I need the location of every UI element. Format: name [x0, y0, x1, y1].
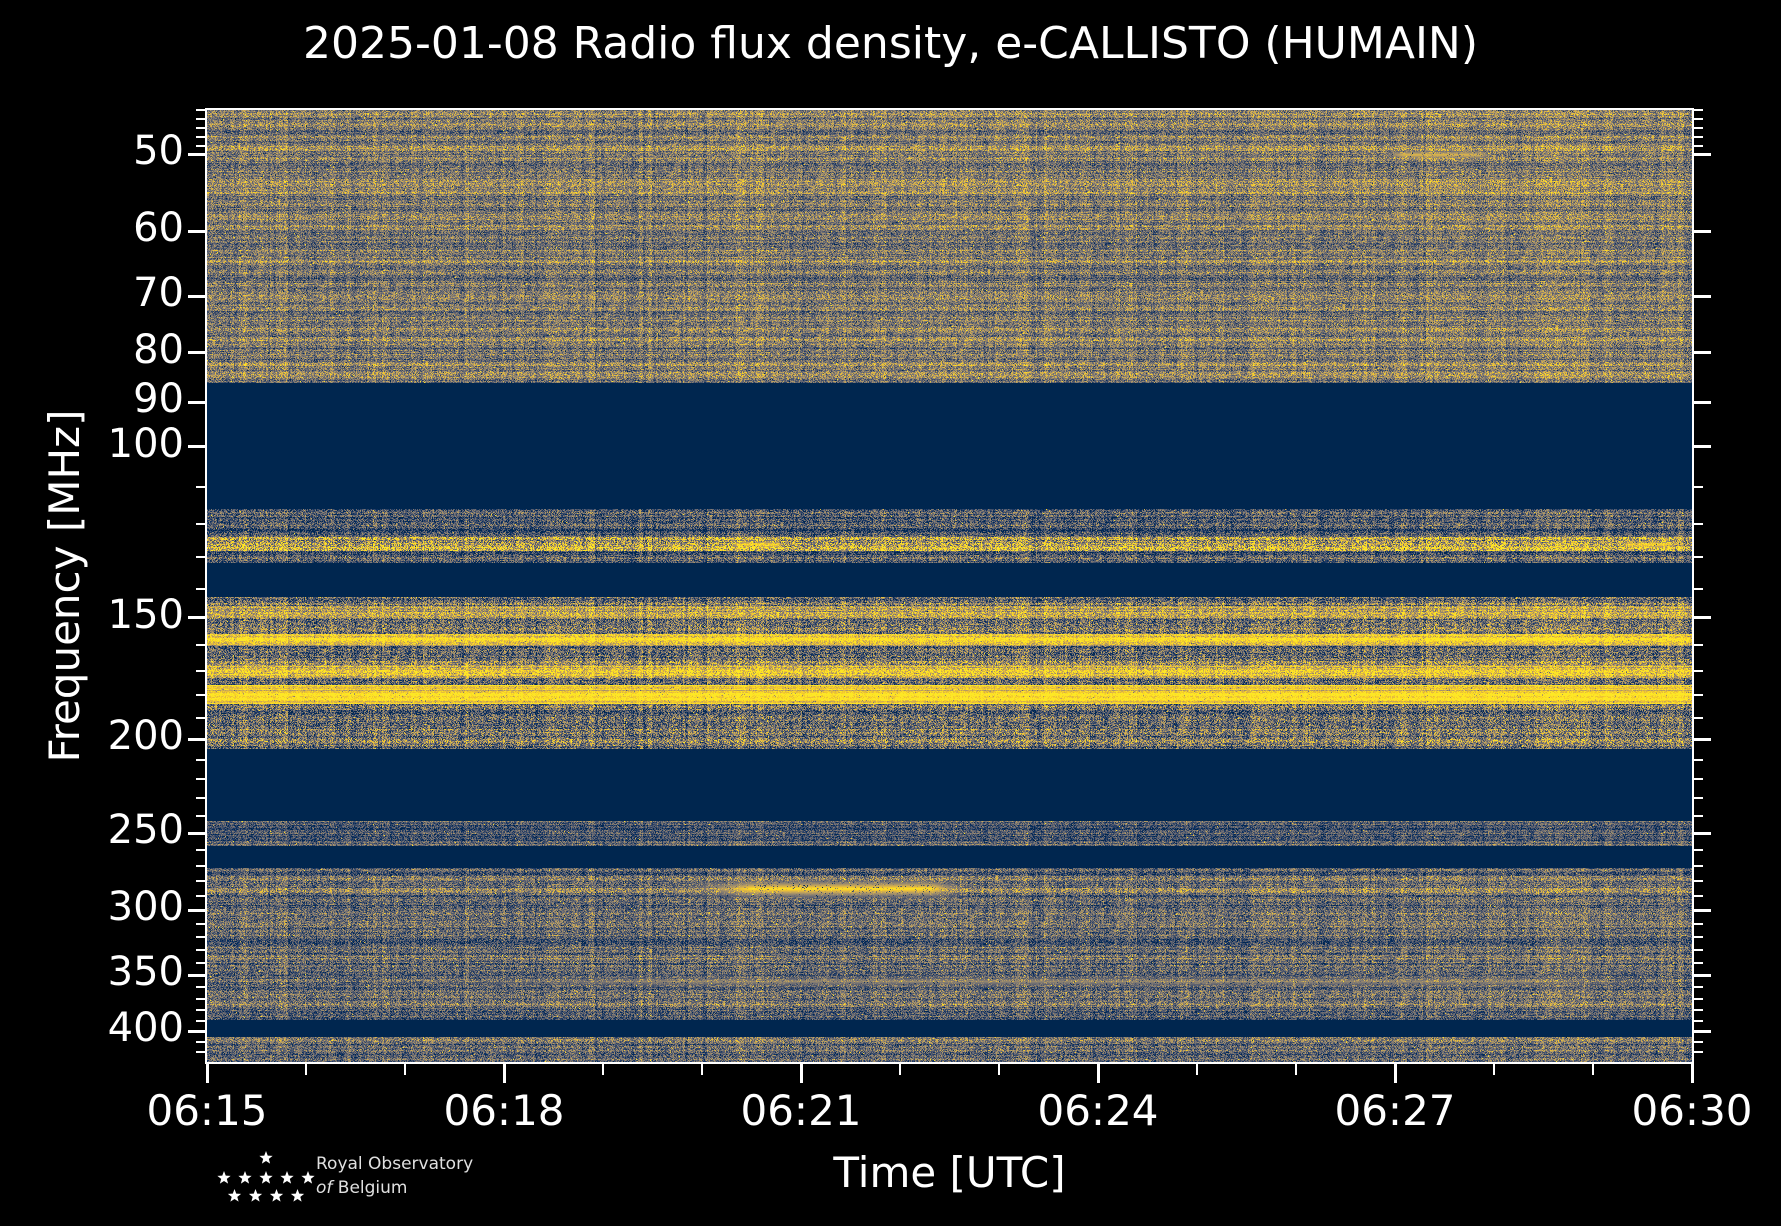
- y-tick-150: [188, 616, 205, 619]
- y-tick-right-100: [1694, 445, 1711, 448]
- y-tick-label-100: 100: [108, 421, 184, 467]
- y-tick-right-250: [1694, 832, 1711, 835]
- y-tick-50: [188, 153, 205, 156]
- y-tick-minor-340: [196, 962, 205, 964]
- y-tick-200: [188, 738, 205, 741]
- y-tick-minor-260: [196, 849, 205, 851]
- x-tick-0621: [800, 1064, 803, 1083]
- y-tick-minor-230: [196, 797, 205, 799]
- y-tick-minor-180: [196, 694, 205, 696]
- y-tick-minor-410: [196, 1041, 205, 1043]
- y-tick-right-60: [1694, 230, 1711, 233]
- logo-line-2: of Belgium: [316, 1176, 516, 1200]
- logo-star-row-3: [228, 1189, 304, 1202]
- x-tick-minor-5: [701, 1064, 703, 1075]
- y-tick-right-80: [1694, 351, 1711, 354]
- y-tick-minor-220: [196, 778, 205, 780]
- y-tick-70: [188, 295, 205, 298]
- y-tick-minor-48: [196, 136, 205, 138]
- y-tick-minor-240: [196, 815, 205, 817]
- y-tick-minor-370: [196, 998, 205, 1000]
- y-tick-minor-130: [196, 556, 205, 558]
- y-tick-label-200: 200: [108, 713, 184, 759]
- y-tick-minor-right-45: [1694, 109, 1703, 111]
- y-tick-right-350: [1694, 974, 1711, 977]
- logo-star-row-2: [217, 1171, 314, 1184]
- x-tick-minor-8: [998, 1064, 1000, 1075]
- royal-observatory-logo: Royal Observatory of Belgium: [206, 1148, 456, 1210]
- y-tick-minor-310: [196, 923, 205, 925]
- y-tick-minor-46: [196, 118, 205, 120]
- y-tick-minor-110: [196, 486, 205, 488]
- y-tick-250: [188, 832, 205, 835]
- y-tick-minor-right-330: [1694, 949, 1703, 951]
- y-tick-minor-49: [196, 145, 205, 147]
- y-tick-minor-right-340: [1694, 962, 1703, 964]
- y-tick-minor-190: [196, 717, 205, 719]
- y-tick-minor-360: [196, 986, 205, 988]
- spectrogram-figure: 2025-01-08 Radio flux density, e-CALLIST…: [0, 0, 1781, 1226]
- y-tick-label-60: 60: [133, 205, 184, 251]
- x-tick-label-0618: 06:18: [443, 1086, 564, 1135]
- x-tick-label-0627: 06:27: [1334, 1086, 1455, 1135]
- logo-country: Belgium: [338, 1178, 408, 1198]
- y-tick-minor-280: [196, 880, 205, 882]
- y-tick-minor-right-220: [1694, 778, 1703, 780]
- y-tick-minor-right-160: [1694, 644, 1703, 646]
- y-tick-minor-right-360: [1694, 986, 1703, 988]
- y-tick-right-70: [1694, 295, 1711, 298]
- x-tick-minor-4: [602, 1064, 604, 1075]
- x-tick-minor-10: [1196, 1064, 1198, 1075]
- y-tick-minor-right-230: [1694, 797, 1703, 799]
- y-tick-label-250: 250: [108, 807, 184, 853]
- y-tick-80: [188, 351, 205, 354]
- logo-star-row-1: [259, 1151, 272, 1164]
- y-tick-label-70: 70: [133, 270, 184, 316]
- y-tick-minor-320: [196, 936, 205, 938]
- x-tick-minor-7: [899, 1064, 901, 1075]
- y-tick-label-50: 50: [133, 128, 184, 174]
- axis-spine-right: [1692, 108, 1694, 1064]
- y-tick-minor-right-390: [1694, 1020, 1703, 1022]
- spectrogram-plot-area[interactable]: [207, 110, 1692, 1062]
- x-tick-0615: [206, 1064, 209, 1083]
- y-tick-100: [188, 445, 205, 448]
- page-title: 2025-01-08 Radio flux density, e-CALLIST…: [0, 18, 1781, 69]
- axis-spine-bottom: [205, 1062, 1694, 1064]
- y-tick-minor-right-110: [1694, 486, 1703, 488]
- y-tick-minor-right-420: [1694, 1051, 1703, 1053]
- y-tick-minor-right-310: [1694, 923, 1703, 925]
- y-axis-title: Frequency [MHz]: [40, 110, 100, 1062]
- y-tick-minor-right-47: [1694, 127, 1703, 129]
- y-tick-minor-270: [196, 865, 205, 867]
- x-tick-label-0630: 06:30: [1631, 1086, 1752, 1135]
- y-tick-label-300: 300: [108, 884, 184, 930]
- y-tick-minor-right-280: [1694, 880, 1703, 882]
- x-tick-minor-11: [1295, 1064, 1297, 1075]
- y-tick-minor-right-140: [1694, 588, 1703, 590]
- y-tick-minor-right-49: [1694, 145, 1703, 147]
- y-tick-300: [188, 909, 205, 912]
- y-tick-minor-right-120: [1694, 523, 1703, 525]
- y-tick-minor-right-380: [1694, 1009, 1703, 1011]
- y-tick-minor-120: [196, 523, 205, 525]
- x-tick-label-0624: 06:24: [1037, 1086, 1158, 1135]
- logo-of-word: of: [316, 1178, 332, 1198]
- y-tick-right-300: [1694, 909, 1711, 912]
- y-tick-400: [188, 1030, 205, 1033]
- y-tick-60: [188, 230, 205, 233]
- x-tick-0630: [1691, 1064, 1694, 1083]
- y-tick-right-200: [1694, 738, 1711, 741]
- y-tick-90: [188, 401, 205, 404]
- x-tick-minor-13: [1493, 1064, 1495, 1075]
- y-tick-minor-right-190: [1694, 717, 1703, 719]
- x-tick-0627: [1394, 1064, 1397, 1083]
- spectrogram-image: [207, 110, 1692, 1062]
- y-tick-minor-right-170: [1694, 670, 1703, 672]
- y-tick-minor-right-210: [1694, 759, 1703, 761]
- axis-spine-top: [205, 108, 1694, 110]
- y-tick-minor-170: [196, 670, 205, 672]
- y-tick-right-50: [1694, 153, 1711, 156]
- y-tick-minor-210: [196, 759, 205, 761]
- y-tick-right-150: [1694, 616, 1711, 619]
- y-tick-minor-330: [196, 949, 205, 951]
- x-tick-label-0621: 06:21: [740, 1086, 861, 1135]
- y-tick-minor-290: [196, 895, 205, 897]
- y-tick-label-150: 150: [108, 592, 184, 638]
- y-tick-minor-right-320: [1694, 936, 1703, 938]
- y-tick-minor-45: [196, 109, 205, 111]
- x-tick-0618: [503, 1064, 506, 1083]
- y-tick-right-400: [1694, 1030, 1711, 1033]
- logo-line-1: Royal Observatory: [316, 1152, 516, 1176]
- y-tick-minor-right-410: [1694, 1041, 1703, 1043]
- y-tick-minor-right-370: [1694, 998, 1703, 1000]
- y-tick-minor-right-46: [1694, 118, 1703, 120]
- y-tick-minor-right-260: [1694, 849, 1703, 851]
- y-tick-minor-390: [196, 1020, 205, 1022]
- y-tick-minor-right-48: [1694, 136, 1703, 138]
- y-tick-minor-47: [196, 127, 205, 129]
- y-tick-minor-140: [196, 588, 205, 590]
- x-tick-0624: [1097, 1064, 1100, 1083]
- y-tick-right-90: [1694, 401, 1711, 404]
- x-tick-minor-14: [1592, 1064, 1594, 1075]
- y-tick-minor-160: [196, 644, 205, 646]
- y-tick-minor-right-180: [1694, 694, 1703, 696]
- x-tick-minor-1: [305, 1064, 307, 1075]
- x-tick-minor-2: [404, 1064, 406, 1075]
- y-tick-label-350: 350: [108, 949, 184, 995]
- y-tick-minor-380: [196, 1009, 205, 1011]
- y-tick-350: [188, 974, 205, 977]
- axis-spine-left: [205, 108, 207, 1064]
- y-tick-minor-right-130: [1694, 556, 1703, 558]
- y-tick-minor-right-270: [1694, 865, 1703, 867]
- y-tick-minor-right-240: [1694, 815, 1703, 817]
- logo-text: Royal Observatory of Belgium: [316, 1152, 516, 1200]
- y-tick-label-90: 90: [133, 376, 184, 422]
- x-tick-label-0615: 06:15: [146, 1086, 267, 1135]
- y-tick-minor-right-290: [1694, 895, 1703, 897]
- y-tick-minor-420: [196, 1051, 205, 1053]
- y-tick-label-400: 400: [108, 1005, 184, 1051]
- y-tick-label-80: 80: [133, 327, 184, 373]
